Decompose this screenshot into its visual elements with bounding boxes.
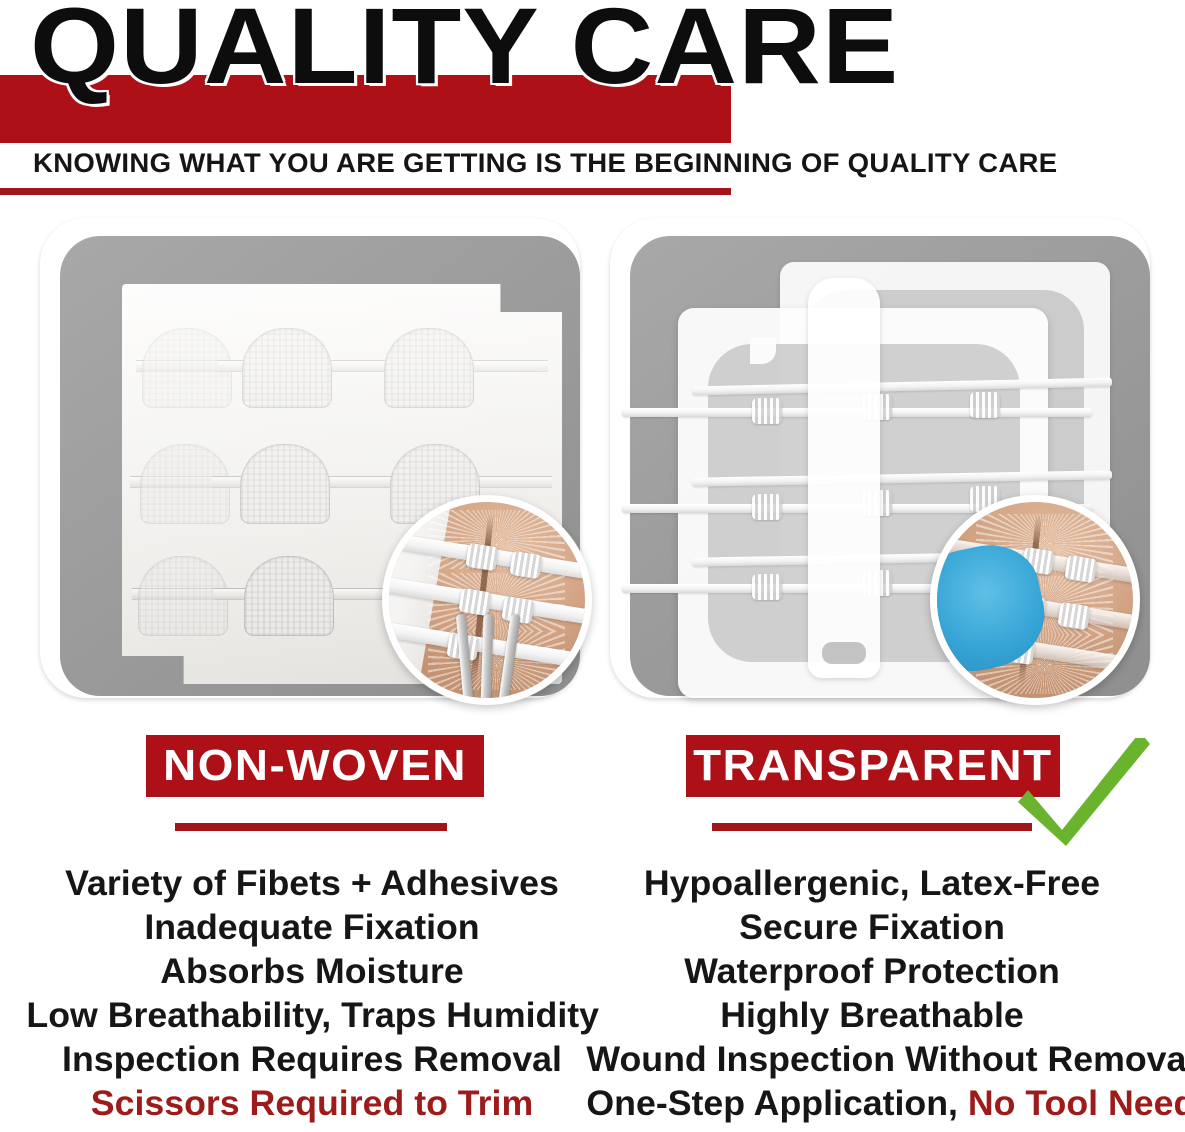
list-item: Wound Inspection Without Removal [586, 1038, 1157, 1082]
label-banner-non-woven: NON-WOVEN [146, 735, 484, 797]
header-underline [0, 188, 731, 195]
page-subtitle: KNOWING WHAT YOU ARE GETTING IS THE BEGI… [33, 148, 1057, 179]
scissors-icon [448, 600, 532, 705]
list-item: Secure Fixation [586, 906, 1157, 950]
feature-lists: Variety of Fibets + Adhesives Inadequate… [0, 862, 1185, 1132]
list-item-accent: Scissors Required to Trim [26, 1082, 597, 1126]
list-item: Waterproof Protection [586, 950, 1157, 994]
list-item: Highly Breathable [586, 994, 1157, 1038]
label-banner-transparent: TRANSPARENT [686, 735, 1060, 797]
divider-non-woven [175, 823, 447, 831]
film-pull-tab [808, 278, 880, 678]
list-item: Variety of Fibets + Adhesives [26, 862, 597, 906]
application-photo-transparent [930, 495, 1140, 705]
product-image-transparent [600, 210, 1160, 710]
product-image-non-woven [30, 210, 590, 710]
divider-transparent [712, 823, 1032, 831]
product-comparison-panels [0, 210, 1185, 720]
list-item-plain: One-Step Application, [586, 1084, 967, 1123]
application-photo-non-woven [382, 495, 592, 705]
list-item-mixed: One-Step Application, No Tool Needed [586, 1082, 1157, 1126]
list-item: Absorbs Moisture [26, 950, 597, 994]
page-title: QUALITY CARE [30, 0, 899, 100]
list-item: Low Breathability, Traps Humidity [26, 994, 597, 1038]
header-banner: QUALITY CARE KNOWING WHAT YOU ARE GETTIN… [0, 0, 1185, 200]
feature-list-transparent: Hypoallergenic, Latex-Free Secure Fixati… [592, 862, 1152, 1126]
product-labels: NON-WOVEN TRANSPARENT [0, 725, 1185, 855]
list-item: Inadequate Fixation [26, 906, 597, 950]
label-text-non-woven: NON-WOVEN [163, 741, 467, 791]
list-item-accent: No Tool Needed [968, 1084, 1185, 1123]
feature-list-non-woven: Variety of Fibets + Adhesives Inadequate… [32, 862, 592, 1126]
list-item: Inspection Requires Removal [26, 1038, 597, 1082]
label-text-transparent: TRANSPARENT [693, 741, 1053, 791]
list-item: Hypoallergenic, Latex-Free [586, 862, 1157, 906]
